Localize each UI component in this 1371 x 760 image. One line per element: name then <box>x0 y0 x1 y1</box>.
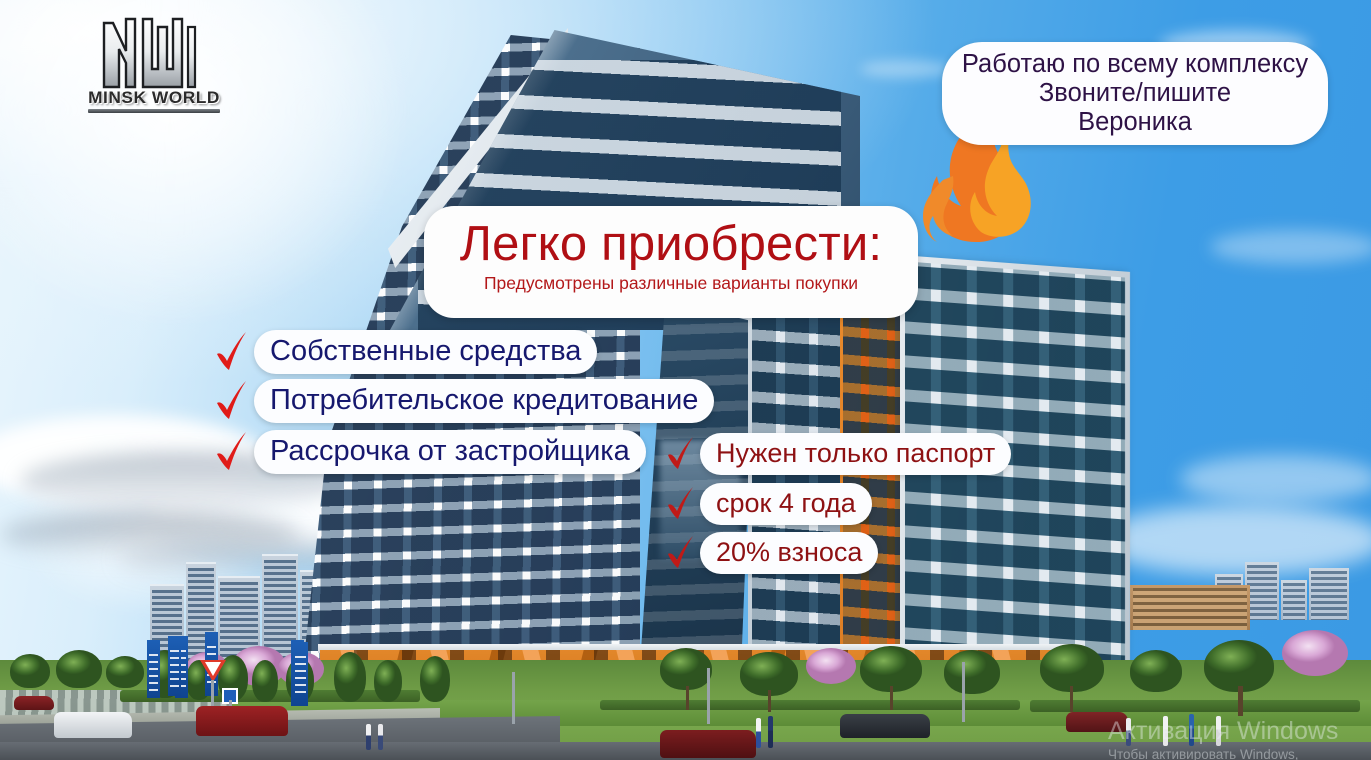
contact-callout-bubble[interactable]: Работаю по всему комплексу Звоните/пишит… <box>942 42 1328 145</box>
car <box>196 706 288 736</box>
list-item-term-duration[interactable]: срок 4 года <box>664 483 872 525</box>
list-item-label: Рассрочка от застройщика <box>254 430 646 474</box>
check-mark-icon <box>212 429 250 475</box>
car <box>14 696 54 710</box>
logo-wordmark: MINSK WORLD <box>83 88 226 108</box>
tree-trunk <box>686 686 689 710</box>
blossom-tree <box>806 648 856 684</box>
tree <box>10 654 50 688</box>
tree <box>1130 650 1182 692</box>
street-light-pole <box>512 672 515 724</box>
list-item-label: Собственные средства <box>254 330 597 374</box>
check-mark-icon <box>212 378 250 424</box>
tree <box>334 652 366 702</box>
yield-sign <box>200 660 226 682</box>
person <box>768 716 773 748</box>
headline-card: Легко приобрести: Предусмотрены различны… <box>424 206 918 318</box>
check-mark-icon <box>212 329 250 375</box>
promo-banner: MINSK WORLD Работаю по всему комплексу З… <box>0 0 1371 760</box>
tree <box>1204 640 1274 692</box>
contact-line-2: Звоните/пишите <box>962 79 1308 108</box>
tree <box>374 660 402 702</box>
mw-monogram-icon <box>98 16 206 90</box>
person <box>1126 718 1131 746</box>
tree-trunk <box>768 690 771 712</box>
street-banner-flag <box>168 636 181 696</box>
tree <box>660 648 712 690</box>
tree-trunk <box>1238 686 1243 716</box>
tree <box>56 650 102 688</box>
tree <box>1040 644 1104 692</box>
list-item-label: Нужен только паспорт <box>700 433 1011 475</box>
list-item-label: Потребительское кредитование <box>254 379 714 423</box>
car <box>54 712 132 738</box>
person <box>1189 714 1194 746</box>
check-mark-icon <box>664 533 696 573</box>
check-mark-icon <box>664 434 696 474</box>
list-item-term-down-payment[interactable]: 20% взноса <box>664 532 878 574</box>
hedge <box>1030 700 1360 712</box>
hedge <box>600 700 1020 710</box>
list-item-payment-consumer-credit[interactable]: Потребительское кредитование <box>212 378 714 424</box>
page-subtitle: Предусмотрены различные варианты покупки <box>424 272 918 294</box>
person <box>366 724 371 750</box>
contact-callout-text: Работаю по всему комплексу Звоните/пишит… <box>962 50 1308 137</box>
car <box>1066 712 1128 732</box>
minsk-world-logo[interactable]: MINSK WORLD <box>84 16 224 116</box>
street-banner-flag <box>147 640 160 698</box>
list-item-label: 20% взноса <box>700 532 878 574</box>
street-light-pole <box>962 662 965 722</box>
street-banner-flag <box>293 642 308 706</box>
street-light-pole <box>707 668 710 724</box>
car <box>660 730 756 758</box>
list-item-label: срок 4 года <box>700 483 872 525</box>
list-item-payment-own-funds[interactable]: Собственные средства <box>212 329 597 375</box>
list-item-term-passport-only[interactable]: Нужен только паспорт <box>664 433 1011 475</box>
page-title: Легко приобрести: <box>424 216 918 272</box>
tree-trunk <box>890 686 893 710</box>
person <box>1163 716 1168 746</box>
tree <box>944 650 1000 694</box>
blossom-tree <box>1282 630 1348 676</box>
tree <box>252 660 278 702</box>
contact-line-3: Вероника <box>962 108 1308 137</box>
tree <box>420 656 450 702</box>
person <box>756 718 761 748</box>
logo-underline <box>88 109 220 113</box>
car <box>840 714 930 738</box>
person <box>378 724 383 750</box>
check-mark-icon <box>664 484 696 524</box>
tree <box>106 656 144 688</box>
list-item-payment-developer-installment[interactable]: Рассрочка от застройщика <box>212 429 646 475</box>
person <box>1216 716 1221 746</box>
tree-trunk <box>1070 686 1073 712</box>
contact-line-1: Работаю по всему комплексу <box>962 50 1308 79</box>
